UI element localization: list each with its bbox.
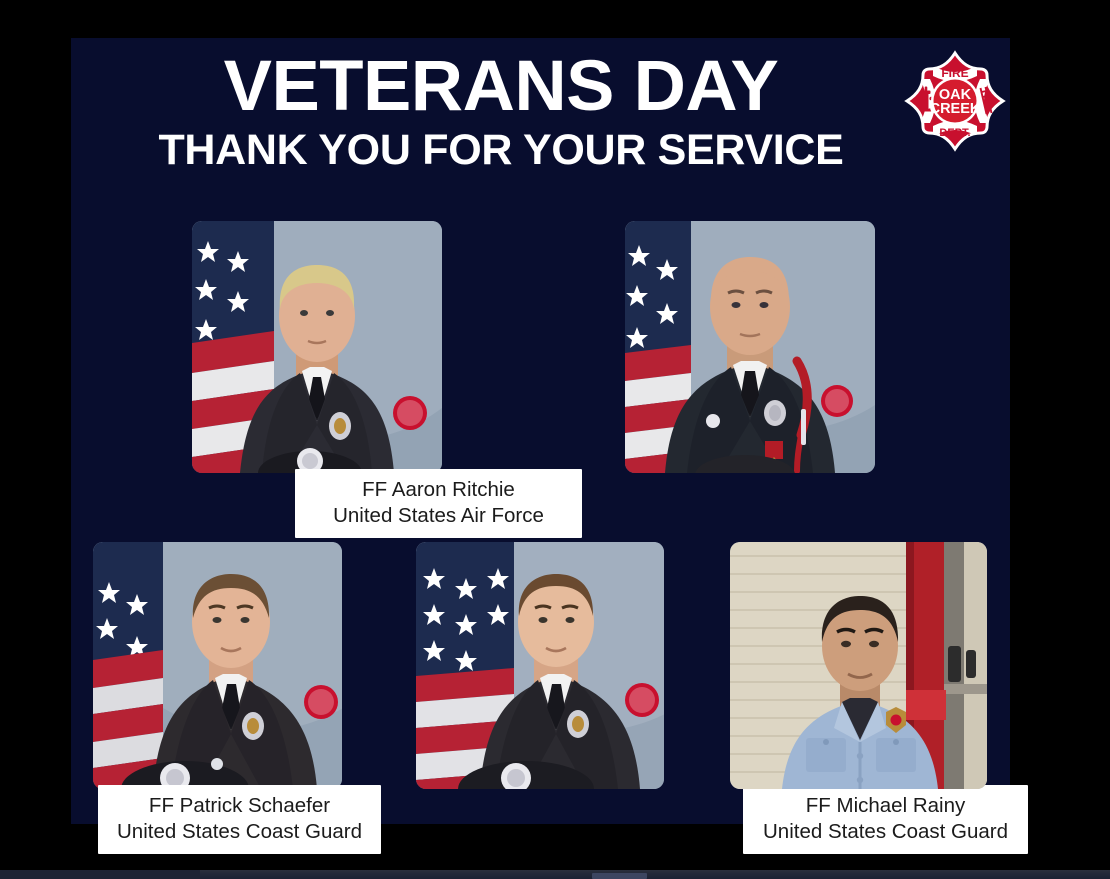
scroll-bar-track-left	[0, 870, 200, 879]
honoree-row-bottom: FF Patrick Schaefer United States Coast …	[71, 508, 1010, 824]
poster-header: VETERANS DAY THANK YOU FOR YOUR SERVICE	[71, 38, 1010, 178]
honoree-nameplate: FF Michael Rainy United States Coast Gua…	[743, 785, 1028, 854]
honoree-name: FF Patrick Schaefer	[108, 793, 371, 819]
scroll-bar-thumb[interactable]	[592, 873, 647, 879]
veterans-day-poster: VETERANS DAY THANK YOU FOR YOUR SERVICE	[71, 38, 1010, 824]
portrait-patrick-schaefer	[93, 542, 342, 789]
honoree-card[interactable]: FF Michael Rainy United States Coast Gua…	[416, 542, 664, 789]
window-scroll-bar[interactable]	[0, 866, 1110, 879]
title-block: VETERANS DAY THANK YOU FOR YOUR SERVICE	[71, 48, 931, 174]
honoree-row-top: FF Aaron Ritchie United States Air Force	[71, 183, 1010, 505]
honoree-card[interactable]: FF Ryan Raffaele United States Air Force	[730, 542, 987, 789]
honoree-card[interactable]: FF Aaron Ritchie United States Air Force	[192, 221, 442, 473]
portrait-aaron-ritchie	[192, 221, 442, 473]
honoree-nameplate: FF Patrick Schaefer United States Coast …	[98, 785, 381, 854]
honoree-name: FF Aaron Ritchie	[305, 477, 572, 503]
oak-creek-fire-dept-logo: FIRE DEPT.	[904, 50, 1006, 152]
honoree-branch: United States Coast Guard	[753, 819, 1018, 845]
portrait-michael-rainy	[416, 542, 664, 789]
portrait-johnathan-leanna	[625, 221, 875, 473]
portrait-ryan-raffaele	[730, 542, 987, 789]
page-title: VETERANS DAY	[62, 48, 939, 126]
honoree-name: FF Michael Rainy	[753, 793, 1018, 819]
screen: VETERANS DAY THANK YOU FOR YOUR SERVICE	[0, 0, 1110, 879]
page-subtitle: THANK YOU FOR YOUR SERVICE	[71, 126, 931, 174]
svg-text:DEPT.: DEPT.	[939, 127, 970, 139]
honoree-branch: United States Coast Guard	[108, 819, 371, 845]
honoree-card[interactable]: FF Johnathan Leanna United States Marine…	[625, 221, 875, 473]
svg-text:CREEK: CREEK	[930, 101, 981, 117]
honoree-card[interactable]: FF Patrick Schaefer United States Coast …	[93, 542, 342, 789]
